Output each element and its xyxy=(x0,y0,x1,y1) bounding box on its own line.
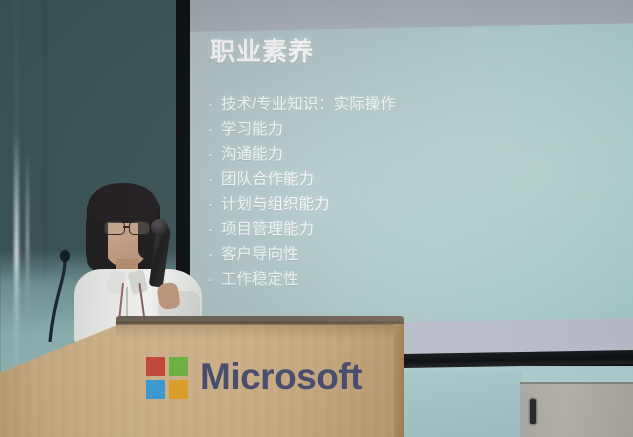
slide-bullet-list: · 技术/专业知识：实际操作 · 学习能力 · 沟通能力 · 团队合作能力 · … xyxy=(208,92,548,292)
slide-bullet-label: 项目管理能力 xyxy=(221,217,314,239)
microsoft-logo: Microsoft xyxy=(146,357,362,400)
bullet-marker-icon: · xyxy=(208,247,221,262)
slide-bullet-label: 客户导向性 xyxy=(221,242,299,264)
slide-bullet-label: 工作稳定性 xyxy=(221,267,299,289)
eyeglass-lens-right xyxy=(129,221,150,235)
slide-bullet-label: 学习能力 xyxy=(221,117,283,139)
slide-top-band xyxy=(190,0,633,32)
slide-bullet: · 项目管理能力 xyxy=(208,217,548,242)
slide-bullet: · 客户导向性 xyxy=(208,242,548,267)
presenter-hair-fringe xyxy=(88,183,158,223)
microsoft-wordmark: Microsoft xyxy=(200,358,362,395)
slide-title: 职业素养 xyxy=(210,32,314,68)
bullet-marker-icon: · xyxy=(208,147,221,162)
microsoft-logo-squares xyxy=(146,357,189,400)
bullet-marker-icon: · xyxy=(208,272,221,287)
microsoft-logo-square-red xyxy=(146,357,165,376)
eyeglass-lens-left xyxy=(104,221,125,235)
eyeglass-bridge xyxy=(123,226,130,228)
microsoft-logo-square-blue xyxy=(146,380,165,399)
bullet-marker-icon: · xyxy=(208,222,221,237)
bullet-marker-icon: · xyxy=(208,97,221,112)
bullet-marker-icon: · xyxy=(208,172,221,187)
slide-bullet: · 团队合作能力 xyxy=(208,167,548,192)
slide-bullet: · 沟通能力 xyxy=(208,142,548,167)
slide-bullet: · 计划与组织能力 xyxy=(208,192,548,217)
bullet-marker-icon: · xyxy=(208,122,221,137)
slide-bullet: · 技术/专业知识：实际操作 xyxy=(208,92,548,117)
slide-bullet-label: 团队合作能力 xyxy=(221,167,314,189)
podium-right-edge xyxy=(394,324,404,437)
podium: Microsoft xyxy=(0,316,408,437)
microsoft-logo-square-yellow xyxy=(169,380,188,399)
slide-bullet: · 学习能力 xyxy=(208,117,548,142)
wall-lower-right-left xyxy=(400,372,522,437)
cabinet-handle xyxy=(530,399,536,424)
microsoft-logo-square-green xyxy=(169,357,188,376)
bullet-marker-icon: · xyxy=(208,197,221,212)
slide-bullet-label: 技术/专业知识：实际操作 xyxy=(221,92,396,114)
presenter-hand xyxy=(156,282,180,311)
presentation-photo: 职业素养 · 技术/专业知识：实际操作 · 学习能力 · 沟通能力 · 团队合作… xyxy=(0,0,633,437)
slide-bullet-label: 计划与组织能力 xyxy=(221,192,330,214)
slide-bullet-label: 沟通能力 xyxy=(221,142,283,164)
slide-bullet: · 工作稳定性 xyxy=(208,267,548,292)
podium-top-shadow xyxy=(116,321,404,339)
projection-screen: 职业素养 · 技术/专业知识：实际操作 · 学习能力 · 沟通能力 · 团队合作… xyxy=(190,0,633,364)
eyeglasses-icon xyxy=(104,221,152,234)
cabinet xyxy=(520,384,633,437)
